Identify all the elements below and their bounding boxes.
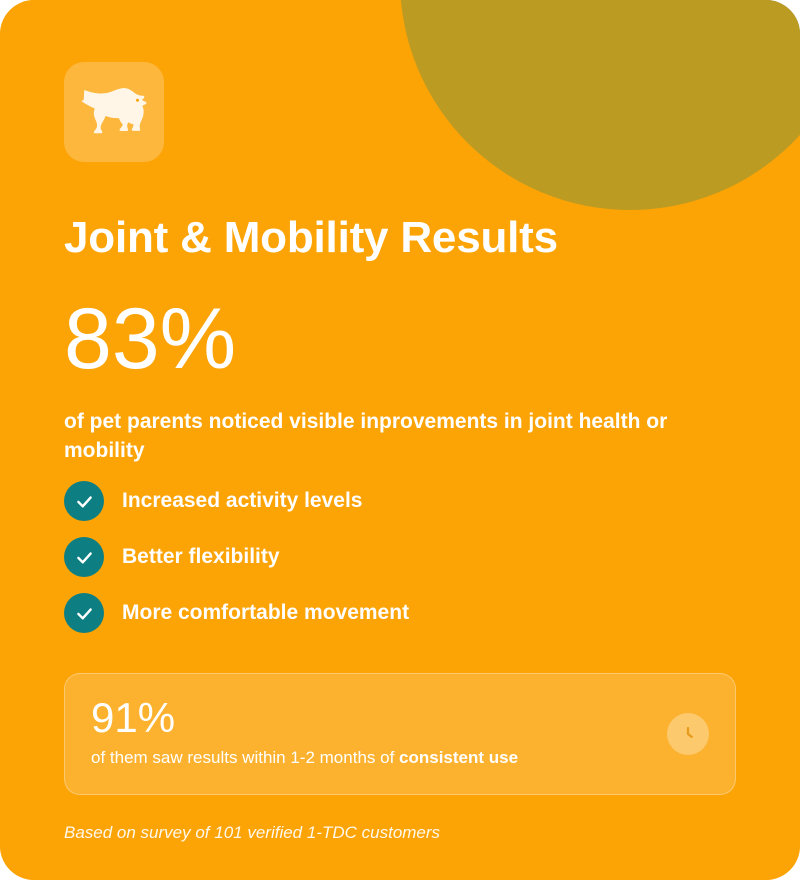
highlight-stat-value: 91% [91, 696, 709, 740]
primary-stat-caption: of pet parents noticed visible inproveme… [64, 408, 736, 465]
list-item: Increased activity levels [64, 481, 736, 521]
highlight-caption-emphasis: consistent use [399, 748, 518, 767]
running-dog-icon [81, 86, 147, 138]
list-item: More comfortable movement [64, 593, 736, 633]
highlight-panel: 91% of them saw results within 1-2 month… [64, 673, 736, 795]
footnote: Based on survey of 101 verified 1-TDC cu… [64, 823, 736, 843]
check-icon [64, 537, 104, 577]
stat-card: Joint & Mobility Results 83% of pet pare… [0, 0, 800, 880]
benefit-label: Increased activity levels [122, 489, 363, 513]
brand-logo-tile [64, 62, 164, 162]
check-icon [64, 593, 104, 633]
card-content: Joint & Mobility Results 83% of pet pare… [0, 0, 800, 843]
card-surface: Joint & Mobility Results 83% of pet pare… [0, 0, 800, 880]
highlight-caption: of them saw results within 1-2 months of… [91, 748, 709, 768]
clock-icon [667, 713, 709, 755]
page-title: Joint & Mobility Results [64, 214, 736, 262]
primary-stat-value: 83% [64, 296, 736, 382]
highlight-caption-lead: of them saw results within 1-2 months of [91, 748, 399, 767]
benefit-label: More comfortable movement [122, 601, 409, 625]
list-item: Better flexibility [64, 537, 736, 577]
benefit-list: Increased activity levels Better flexibi… [64, 481, 736, 633]
benefit-label: Better flexibility [122, 545, 280, 569]
check-icon [64, 481, 104, 521]
